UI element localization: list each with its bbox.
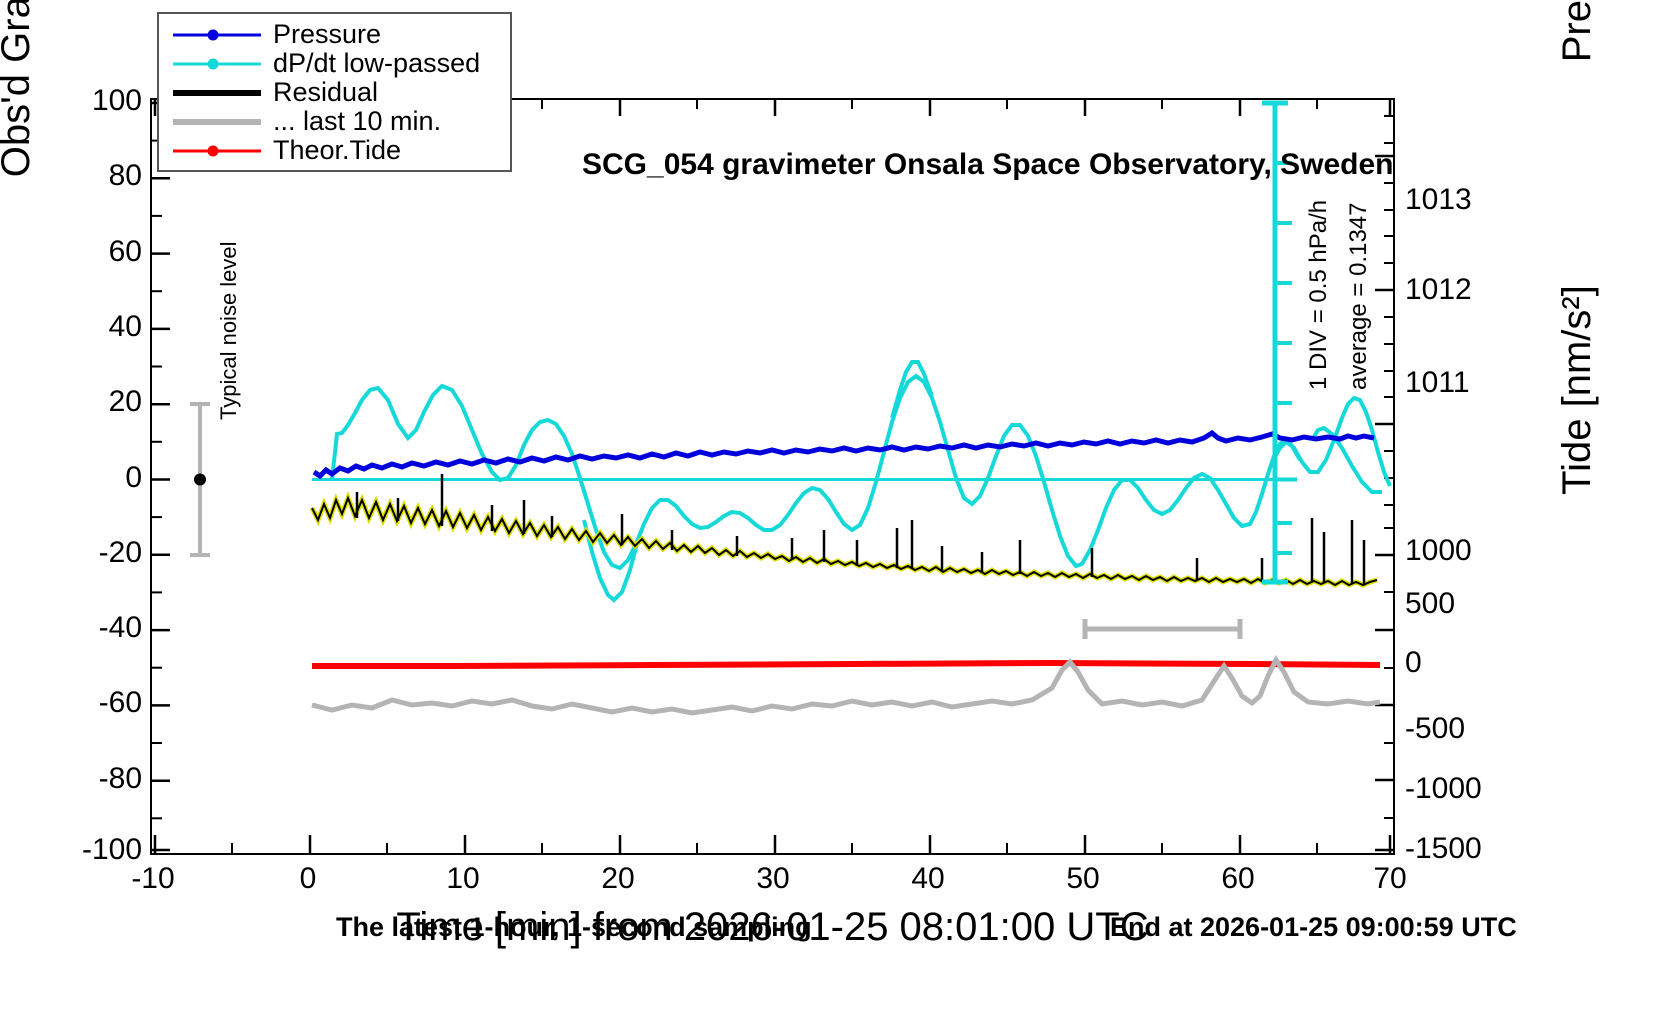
last10-scale-bar	[1085, 619, 1240, 639]
xtick-50: 50	[1066, 862, 1099, 896]
tide-axis-title: Tide [nm/s²]	[1555, 240, 1600, 540]
plot-title: SCG_054 gravimeter Onsala Space Observat…	[582, 148, 1394, 182]
ytick-m60: -60	[99, 686, 142, 720]
ttick-500: 500	[1405, 587, 1455, 621]
ytick-40: 40	[109, 310, 142, 344]
legend-item-residual: Residual	[159, 78, 510, 107]
legend-label-dpdt: dP/dt low-passed	[273, 50, 480, 77]
tide-series	[312, 663, 1380, 666]
pressure-axis-title: Pressure [hPa]	[1555, 0, 1600, 120]
noise-level-label: Typical noise level	[216, 241, 242, 420]
ttick-1000: 1000	[1405, 534, 1472, 568]
ytick-m20: -20	[99, 536, 142, 570]
legend-item-last10: ... last 10 min.	[159, 107, 510, 136]
xtick-60: 60	[1221, 862, 1254, 896]
legend-label-tide: Theor.Tide	[273, 137, 401, 164]
dpdt-scale-label: 1 DIV = 0.5 hPa/h	[1305, 200, 1333, 390]
legend-swatch-last10	[173, 112, 261, 132]
dpdt-series	[332, 376, 1390, 568]
legend-item-dpdt: dP/dt low-passed	[159, 49, 510, 78]
residual-series-yellow	[312, 498, 1377, 585]
xtick-20: 20	[601, 862, 634, 896]
pressure-series	[314, 433, 1374, 476]
ptick-1012: 1012	[1405, 273, 1472, 307]
left-axis-ticks	[152, 103, 170, 850]
legend-label-last10: ... last 10 min.	[273, 108, 441, 135]
ytick-20: 20	[109, 385, 142, 419]
bottom-axis-ticks	[155, 835, 1390, 853]
residual-series	[312, 498, 1377, 585]
legend-label-pressure: Pressure	[273, 21, 381, 48]
dpdt-average-label: average = 0.1347	[1345, 203, 1373, 391]
legend-swatch-pressure	[173, 25, 261, 45]
legend-item-tide: Theor.Tide	[159, 136, 510, 165]
xtick-0: 0	[300, 862, 317, 896]
right-axis-labels: 1013 1012 1011 1000 500 0 -500 -1000 -15…	[1405, 0, 1565, 1020]
xtick-70: 70	[1373, 862, 1406, 896]
legend-label-residual: Residual	[273, 79, 378, 106]
ytick-80: 80	[109, 159, 142, 193]
ytick-60: 60	[109, 235, 142, 269]
xtick-m10: -10	[131, 862, 174, 896]
x-axis-title: Time [min] from 2026-01-25 08:01:00 UTC	[150, 905, 1395, 950]
legend: Pressure dP/dt low-passed Residual ... l…	[157, 12, 512, 172]
xtick-40: 40	[911, 862, 944, 896]
ttick-m1000: -1000	[1405, 772, 1482, 806]
noise-level-dot	[194, 474, 206, 486]
ptick-1013: 1013	[1405, 183, 1472, 217]
legend-swatch-residual	[173, 83, 261, 103]
ttick-m500: -500	[1405, 712, 1465, 746]
xtick-10: 10	[446, 862, 479, 896]
ptick-1011: 1011	[1405, 366, 1470, 400]
y-axis-title: Obs'd Gravity [nm/s²]	[0, 0, 39, 200]
plot-area: SCG_054 gravimeter Onsala Space Observat…	[150, 98, 1395, 855]
ytick-m80: -80	[99, 762, 142, 796]
ytick-0: 0	[125, 461, 142, 495]
ytick-100: 100	[92, 84, 142, 118]
ytick-m40: -40	[99, 611, 142, 645]
legend-swatch-dpdt	[173, 54, 261, 74]
xtick-30: 30	[756, 862, 789, 896]
plot-canvas	[152, 100, 1393, 853]
ttick-0: 0	[1405, 646, 1422, 680]
legend-item-pressure: Pressure	[159, 20, 510, 49]
legend-swatch-tide	[173, 141, 261, 161]
ttick-m1500: -1500	[1405, 832, 1482, 866]
